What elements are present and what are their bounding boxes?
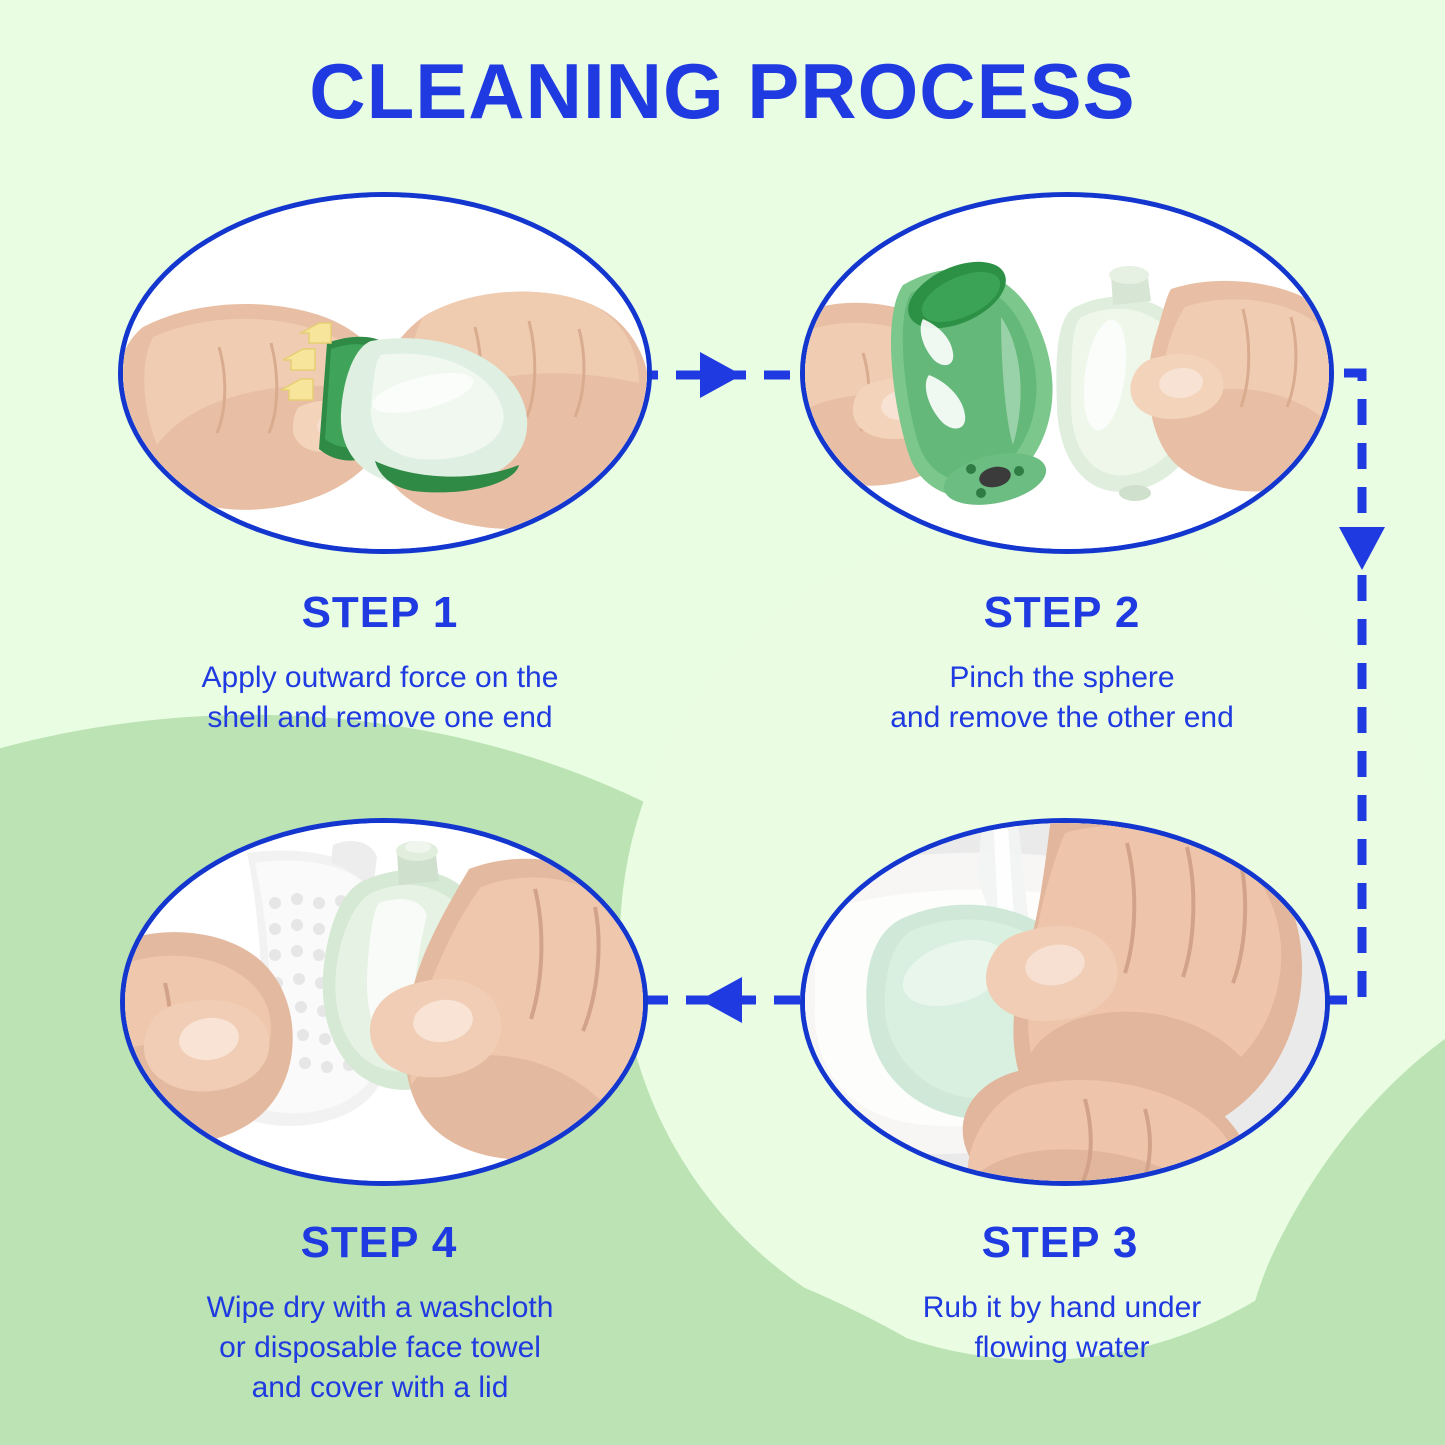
step-2-image-frame — [800, 192, 1334, 554]
connector-3-to-4 — [638, 977, 800, 1023]
step-2-desc-line-2: and remove the other end — [782, 698, 1342, 738]
step-1-title: STEP 1 — [118, 588, 642, 638]
step-4-title: STEP 4 — [120, 1218, 638, 1268]
step-2-description: Pinch the sphere and remove the other en… — [782, 658, 1342, 738]
step-1-description: Apply outward force on the shell and rem… — [100, 658, 660, 738]
step-2-title: STEP 2 — [800, 588, 1324, 638]
connector-1-to-2 — [632, 352, 800, 398]
step-3-title: STEP 3 — [800, 1218, 1320, 1268]
step-1-image-frame — [118, 192, 652, 554]
step-3-desc-line-2: flowing water — [782, 1328, 1342, 1368]
step-4-desc-line-1: Wipe dry with a washcloth — [100, 1288, 660, 1328]
step-1-photo — [123, 197, 647, 549]
step-4-desc-line-2: or disposable face towel — [100, 1328, 660, 1368]
step-4-desc-line-3: and cover with a lid — [100, 1368, 660, 1408]
step-4-image-frame — [120, 818, 648, 1186]
step-4-photo — [125, 823, 643, 1181]
step-4-description: Wipe dry with a washcloth or disposable … — [100, 1288, 660, 1408]
step-3-photo — [805, 823, 1325, 1181]
step-1-desc-line-1: Apply outward force on the — [100, 658, 660, 698]
page-title: CLEANING PROCESS — [0, 46, 1445, 137]
step-3-image-frame — [800, 818, 1330, 1186]
infographic-canvas: CLEANING PROCESS — [0, 0, 1445, 1445]
step-3-desc-line-1: Rub it by hand under — [782, 1288, 1342, 1328]
step-2-desc-line-1: Pinch the sphere — [782, 658, 1342, 698]
step-3-description: Rub it by hand under flowing water — [782, 1288, 1342, 1368]
step-1-desc-line-2: shell and remove one end — [100, 698, 660, 738]
step-2-photo — [805, 197, 1329, 549]
